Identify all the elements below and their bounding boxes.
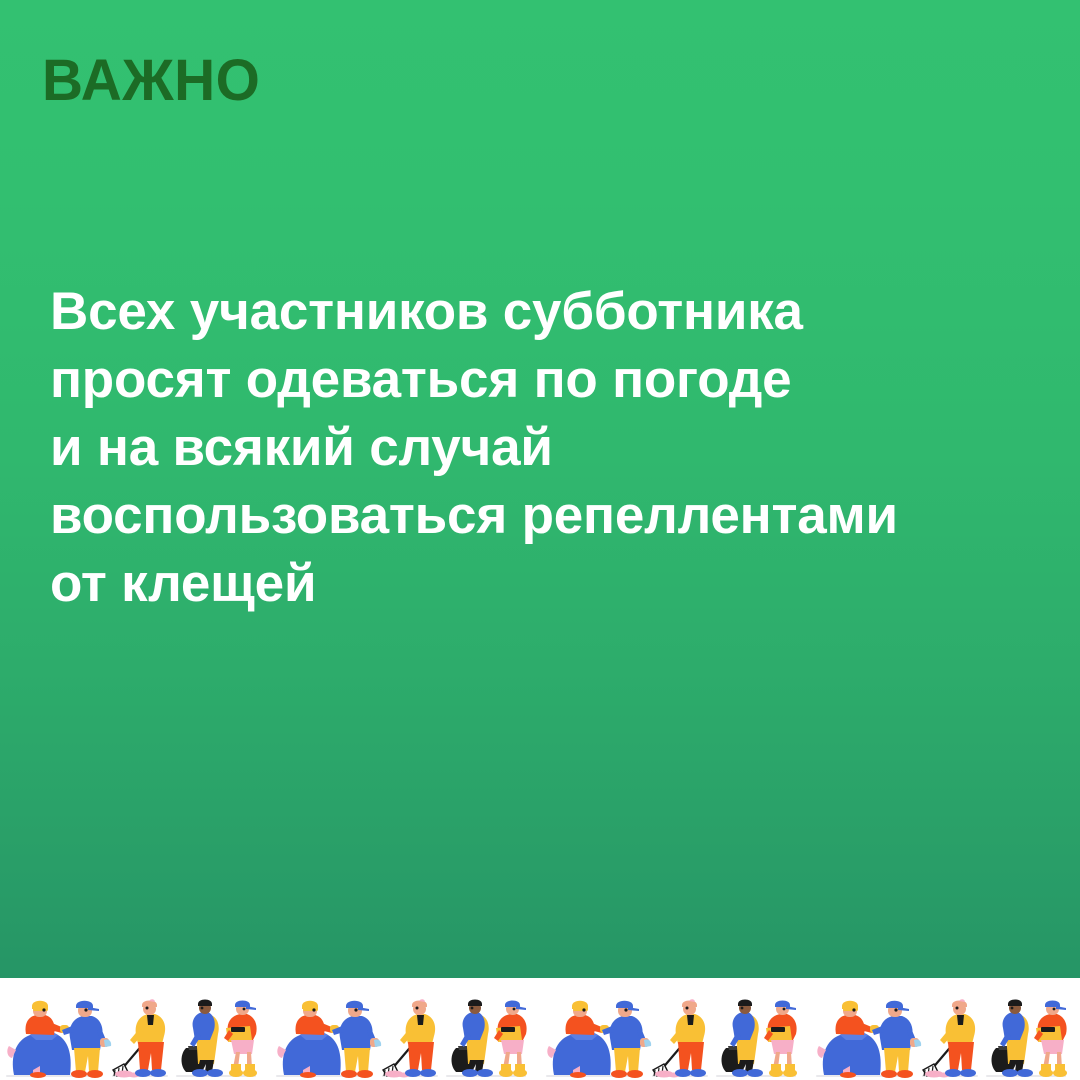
illustration-track (0, 978, 1080, 1080)
illustration-scene (540, 978, 810, 1080)
headline-line: и на всякий случай (50, 414, 1040, 482)
poster-canvas: ВАЖНО Всех участников субботника просят … (0, 0, 1080, 1080)
headline-line: Всех участников субботника (50, 278, 1040, 346)
headline-line: воспользоваться репеллентами (50, 482, 1040, 550)
headline-line: от клещей (50, 550, 1040, 618)
illustration-scene (0, 978, 270, 1080)
illustration-scene (810, 978, 1080, 1080)
volunteers-illustration-band (0, 978, 1080, 1080)
headline-line: просят одеваться по погоде (50, 346, 1040, 414)
illustration-scene (270, 978, 540, 1080)
headline-block: Всех участников субботника просят одеват… (50, 278, 1040, 618)
kicker-label: ВАЖНО (42, 52, 260, 110)
